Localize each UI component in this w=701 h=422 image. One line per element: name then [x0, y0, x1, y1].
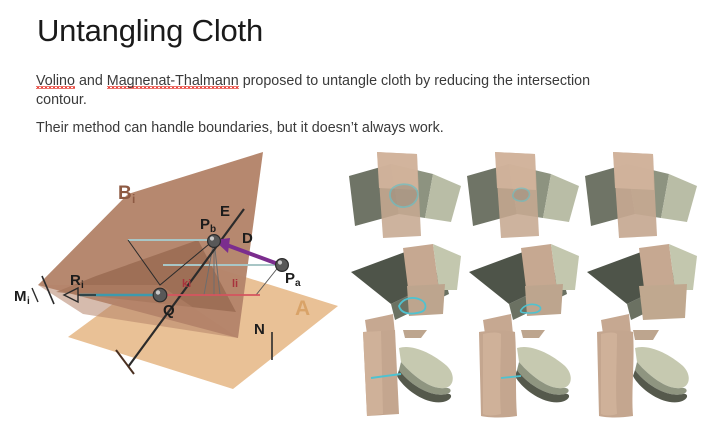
normal-m-tick-2 — [32, 288, 38, 302]
misspelled-word-volino: Volino — [36, 73, 75, 89]
cloth-frame — [465, 330, 583, 422]
cloth-tan-fragment — [521, 330, 545, 338]
geometry-diagram: B i A P b P a Q E D N M i R i ki li — [8, 152, 344, 390]
label-distance-li: li — [232, 278, 238, 290]
cloth-frame — [465, 242, 583, 334]
cloth-frame — [583, 242, 701, 334]
cloth-frame — [347, 150, 465, 242]
misspelled-word-magnenat-thalmann: Magnenat-Thalmann — [107, 73, 239, 89]
cloth-tan-top — [377, 152, 418, 190]
label-distance-ki: ki — [182, 278, 191, 290]
label-normal-m: M — [14, 288, 27, 305]
cloth-frame — [347, 330, 465, 422]
label-vector-ri: R — [70, 272, 81, 289]
cloth-row-flat-sheets — [347, 150, 699, 242]
label-point-pa-subscript: a — [295, 278, 301, 289]
cloth-simulation-grid — [347, 150, 699, 415]
cloth-tan-top — [613, 152, 654, 190]
label-plane-b: B — [118, 183, 132, 204]
cloth-frame — [465, 150, 583, 242]
intersection-contour — [390, 184, 418, 207]
cloth-row-folded-sheets — [347, 242, 699, 334]
label-edge-e: E — [220, 203, 230, 220]
label-normal-m-subscript: i — [27, 296, 30, 307]
label-point-q: Q — [163, 302, 175, 319]
cloth-tan-fragment — [403, 330, 427, 338]
cloth-tan-curtain-light — [483, 333, 501, 416]
page-title: Untangling Cloth — [37, 12, 263, 50]
cloth-tan-lower — [407, 284, 445, 316]
label-vector-d: D — [242, 230, 253, 247]
slide-canvas: Untangling Cloth Volino and Magnenat-Tha… — [0, 0, 701, 417]
body-text-segment: and — [75, 73, 107, 89]
point-pb-highlight — [210, 236, 214, 240]
label-plane-a: A — [295, 297, 310, 320]
body-paragraph-1: Volino and Magnenat-Thalmann proposed to… — [36, 72, 636, 110]
cloth-tan-top — [495, 152, 536, 190]
cloth-tan-lower — [525, 284, 563, 316]
label-point-pa: P — [285, 270, 295, 287]
cloth-tan-fragment — [633, 330, 659, 340]
point-pa-highlight — [278, 260, 282, 264]
point-q-highlight — [156, 290, 160, 294]
cloth-tan-curtain-light — [363, 331, 383, 416]
body-paragraph-2: Their method can handle boundaries, but … — [36, 119, 636, 138]
cloth-tan-curtain-light — [601, 333, 617, 416]
point-pb-sphere — [208, 235, 221, 248]
cloth-frame — [583, 330, 701, 422]
cloth-frame — [347, 242, 465, 334]
label-point-pb-subscript: b — [210, 224, 216, 235]
label-vector-ri-subscript: i — [81, 280, 84, 291]
cloth-tan-lower — [639, 284, 687, 320]
label-normal-n: N — [254, 321, 265, 338]
label-plane-b-subscript: i — [132, 192, 135, 206]
body-text-segment: Their method can handle boundaries, but … — [36, 120, 444, 136]
point-q-sphere — [153, 288, 167, 302]
intersection-contour — [513, 188, 530, 201]
cloth-row-draped-sheets — [347, 330, 699, 422]
label-point-pb: P — [200, 216, 210, 233]
cloth-frame — [583, 150, 701, 242]
